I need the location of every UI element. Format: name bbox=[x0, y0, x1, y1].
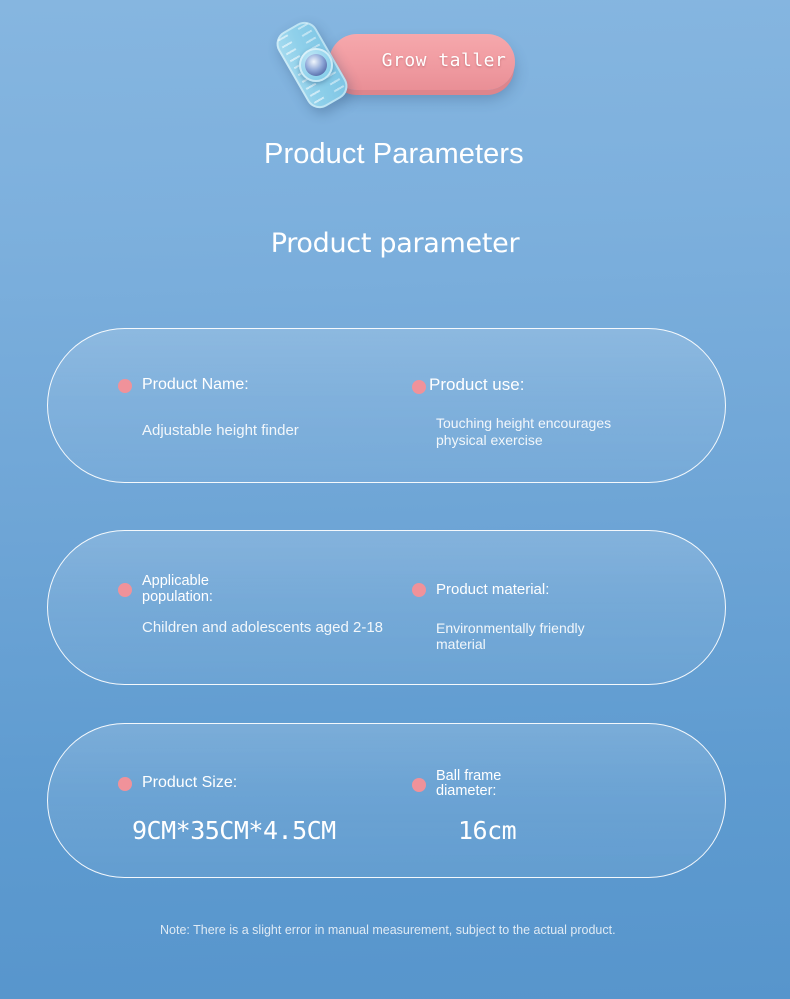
bullet-dot-icon bbox=[412, 778, 426, 792]
parameter-cell: Product Size: 9CM*35CM*4.5CM bbox=[108, 0, 398, 999]
field-value: 16cm bbox=[458, 823, 516, 839]
parameter-cell: Ball frame diameter: 16cm bbox=[404, 0, 674, 999]
bullet-dot-icon bbox=[118, 777, 132, 791]
field-label: Ball frame diameter: bbox=[436, 769, 548, 799]
measurement-note: Note: There is a slight error in manual … bbox=[160, 922, 630, 938]
field-label: Product Size: bbox=[142, 775, 237, 792]
field-value: 9CM*35CM*4.5CM bbox=[132, 823, 336, 839]
